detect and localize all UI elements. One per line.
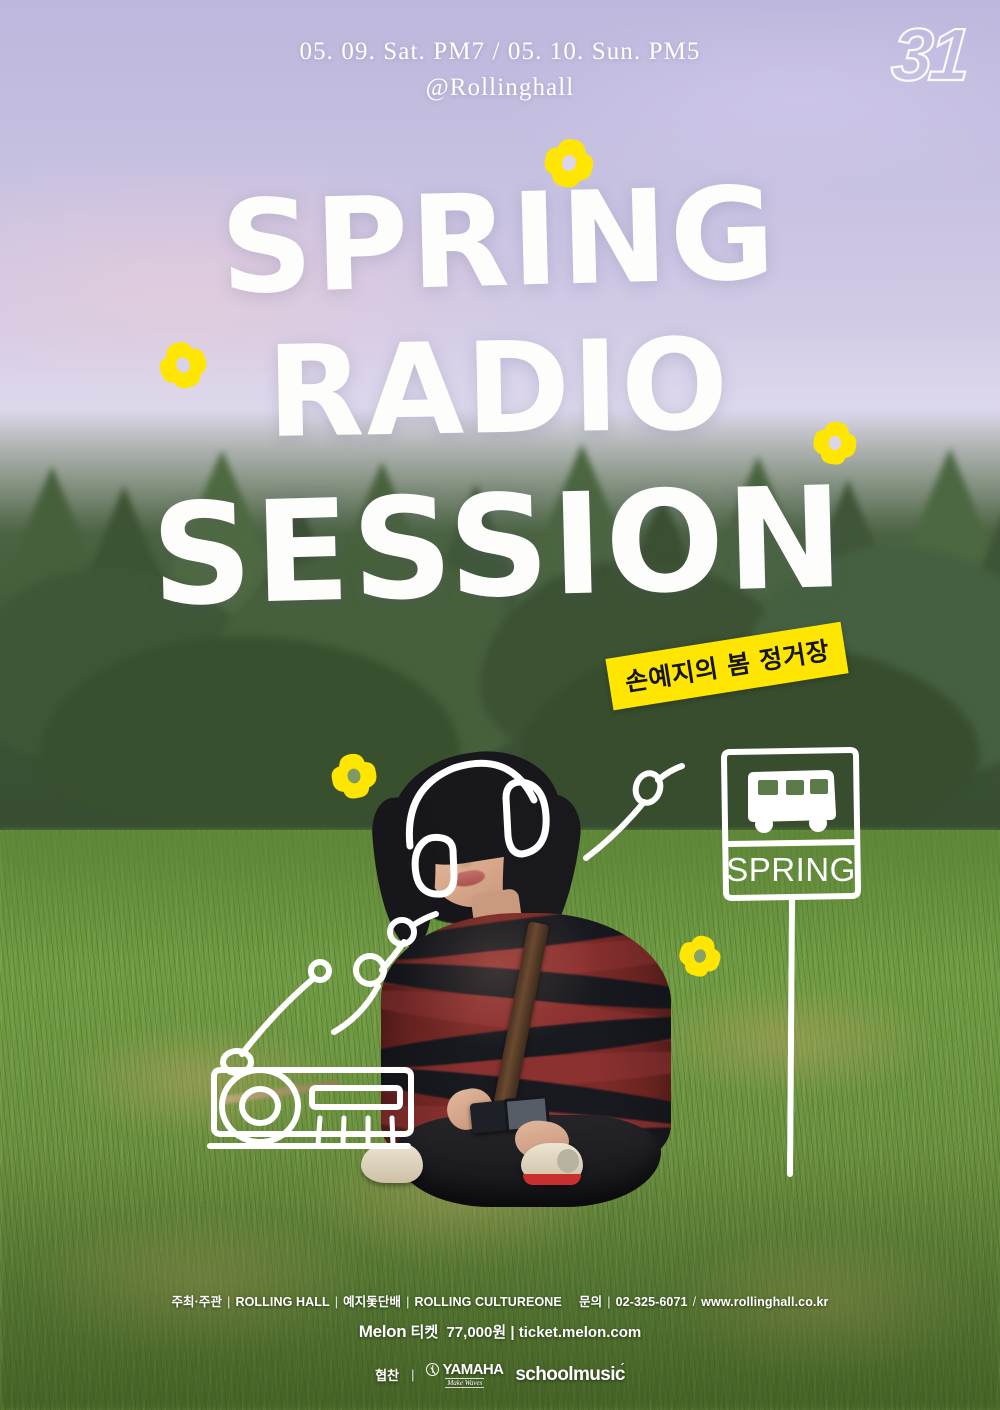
credit-org-2: 예지돛단배 — [343, 1295, 401, 1309]
page-title-line-2: RADIO — [0, 334, 1000, 445]
schedule-info: 05. 09. Sat. PM7 / 05. 10. Sun. PM5 @Rol… — [0, 34, 1000, 105]
poster: SPRING 05. 09. Sat. PM7 / 0 — [0, 0, 1000, 1410]
footer-credits: 주최·주관|ROLLING HALL|예지돛단배|ROLLING CULTURE… — [0, 1291, 1000, 1310]
credit-sep-2: | — [335, 1295, 338, 1309]
ticket-vendor: Melon — [359, 1322, 407, 1341]
ticket-info: Melon 티켓 77,000원 | ticket.melon.com — [0, 1321, 1000, 1342]
inquiry-label: 문의 — [579, 1295, 602, 1309]
credit-sep-4: | — [607, 1295, 610, 1309]
ticket-price: 77,000원 — [446, 1324, 506, 1341]
title-word-session: SESSION — [150, 477, 847, 618]
sponsors-label: 협찬 — [375, 1365, 399, 1384]
credit-sep-3: | — [406, 1295, 409, 1309]
schoolmusic-logo: schoolmusic ´ — [515, 1364, 625, 1386]
venue-line: @Rollinghall — [0, 70, 1000, 106]
yamaha-wordmark: YAMAHA — [442, 1362, 503, 1377]
credit-slash: / — [693, 1295, 697, 1309]
badge-31: 31 — [889, 18, 968, 92]
sponsors-row: 협찬 | YAMAHA Make Waves schoolmusic ´ — [0, 1362, 1000, 1389]
yamaha-tagline: Make Waves — [445, 1378, 484, 1388]
yamaha-tuning-fork-icon — [426, 1363, 439, 1376]
schedule-line-1: 05. 09. Sat. PM7 / 05. 10. Sun. PM5 — [299, 38, 700, 65]
ticket-divider: | — [510, 1324, 514, 1341]
credit-org-1: ROLLING HALL — [235, 1295, 329, 1309]
title-word-spring: SPRING — [219, 179, 778, 306]
page-title-line-3: SESSION — [0, 486, 1000, 609]
schoolmusic-accent-icon: ´ — [620, 1361, 623, 1375]
credit-sep-1: | — [227, 1295, 230, 1309]
sponsors-divider: | — [411, 1367, 414, 1382]
title-word-radio: RADIO — [267, 330, 732, 449]
credit-role: 주최·주관 — [171, 1295, 222, 1309]
page-title-line-1: SPRING — [0, 186, 1000, 299]
inquiry-phone[interactable]: 02-325-6071 — [616, 1295, 688, 1309]
ticket-url[interactable]: ticket.melon.com — [519, 1324, 642, 1341]
ticket-word: 티켓 — [411, 1324, 439, 1341]
schoolmusic-wordmark: schoolmusic — [515, 1364, 625, 1385]
yamaha-logo: YAMAHA Make Waves — [426, 1362, 503, 1389]
website-link[interactable]: www.rollinghall.co.kr — [701, 1295, 828, 1309]
credit-org-3: ROLLING CULTUREONE — [414, 1295, 561, 1309]
person-photo — [355, 745, 685, 1205]
flower-icon — [326, 748, 382, 804]
footer: 주최·주관|ROLLING HALL|예지돛단배|ROLLING CULTURE… — [0, 1291, 1000, 1389]
